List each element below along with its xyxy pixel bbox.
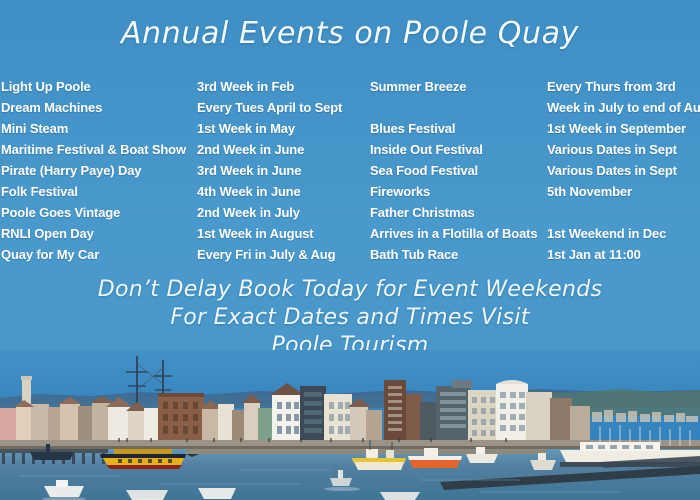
list-item: Quay for My Car [1,244,197,265]
list-item-blank [547,202,700,223]
list-item: Light Up Poole [1,76,197,97]
list-item: 1st Weekend in Dec [547,223,700,244]
list-item: Blues Festival [370,118,546,139]
list-item: Bath Tub Race [370,244,546,265]
poster: Annual Events on Poole Quay Light Up Poo… [0,0,700,500]
cta-line-1: Don’t Delay Book Today for Event Weekend… [0,276,700,304]
list-item: Folk Festival [1,181,197,202]
list-item: Maritime Festival & Boat Show [1,139,197,160]
list-item: Every Thurs from 3rd [547,76,700,97]
cta-line-2: For Exact Dates and Times Visit [0,304,700,332]
list-item: Every Fri in July & Aug [197,244,369,265]
events-column-event-names: Light Up Poole Dream Machines Mini Steam… [1,76,197,265]
list-item: Poole Goes Vintage [1,202,197,223]
list-item: Week in July to end of Aug [547,97,700,118]
call-to-action: Don’t Delay Book Today for Event Weekend… [0,276,700,360]
list-item: 3rd Week in June [197,160,369,181]
list-item: 2nd Week in June [197,139,369,160]
list-item: Various Dates in Sept [547,139,700,160]
list-item: 1st Jan at 11:00 [547,244,700,265]
list-item: Every Tues April to Sept [197,97,369,118]
list-item: 1st Week in September [547,118,700,139]
list-item: 4th Week in June [197,181,369,202]
events-table: Light Up Poole Dream Machines Mini Steam… [0,76,700,261]
events-column-event-names-second: Summer Breeze Blues Festival Inside Out … [370,76,546,265]
harbour-photo [0,350,700,500]
list-item: Various Dates in Sept [547,160,700,181]
list-item: Inside Out Festival [370,139,546,160]
events-column-event-dates-first: 3rd Week in Feb Every Tues April to Sept… [197,76,369,265]
list-item: Dream Machines [1,97,197,118]
list-item: 5th November [547,181,700,202]
list-item: Pirate (Harry Paye) Day [1,160,197,181]
list-item: 3rd Week in Feb [197,76,369,97]
list-item: 1st Week in August [197,223,369,244]
page-title: Annual Events on Poole Quay [0,16,700,51]
list-item: 1st Week in May [197,118,369,139]
list-item: Mini Steam [1,118,197,139]
list-item: 2nd Week in July [197,202,369,223]
list-item-blank [370,97,546,118]
events-column-event-dates-second: Every Thurs from 3rd Week in July to end… [547,76,700,265]
harbour-photo-illustration [0,350,700,500]
list-item: Fireworks [370,181,546,202]
list-item: Sea Food Festival [370,160,546,181]
list-item: Arrives in a Flotilla of Boats [370,223,546,244]
list-item: RNLI Open Day [1,223,197,244]
list-item: Father Christmas [370,202,546,223]
list-item: Summer Breeze [370,76,546,97]
